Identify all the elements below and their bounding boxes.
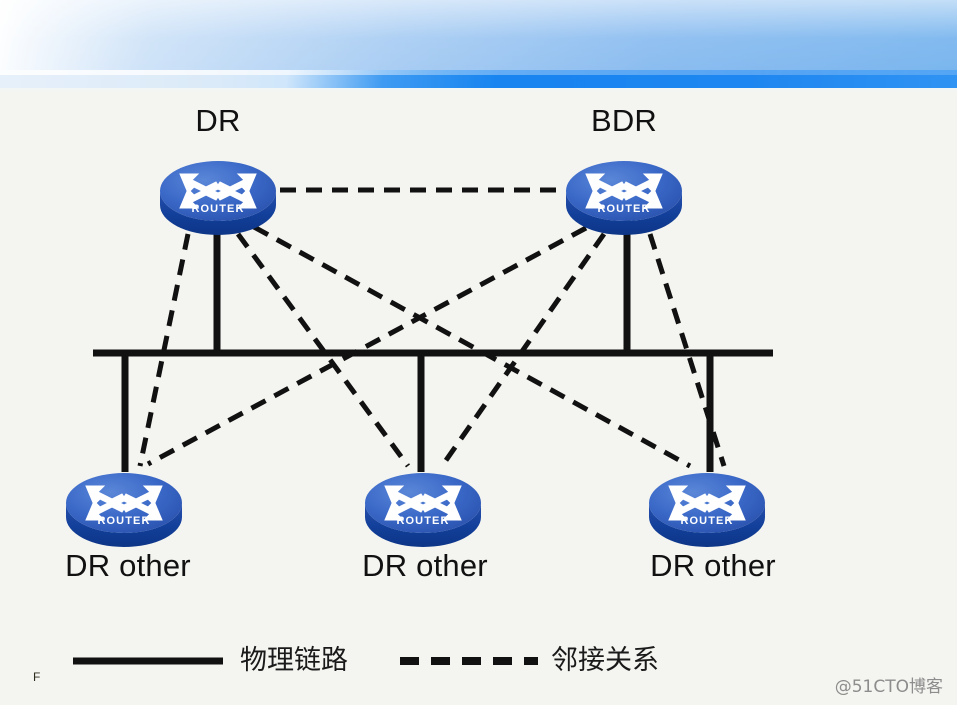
node-label-drother-2: DR other bbox=[297, 549, 553, 583]
watermark-51cto: @51CTO博客 bbox=[835, 672, 943, 697]
node-label-bdr: BDR bbox=[406, 104, 842, 138]
router-node-bdr[interactable] bbox=[566, 161, 682, 235]
router-node-drother-1[interactable] bbox=[66, 473, 182, 547]
header-band bbox=[0, 0, 957, 70]
slide-root: ROUTER bbox=[0, 0, 957, 705]
legend-label-adjacency: 邻接关系 bbox=[551, 646, 659, 676]
router-node-dr[interactable] bbox=[160, 161, 276, 235]
router-node-drother-2[interactable] bbox=[365, 473, 481, 547]
node-label-drother-3: DR other bbox=[585, 549, 841, 583]
diagram-canvas: ROUTER bbox=[0, 94, 957, 705]
corner-mark: F bbox=[33, 671, 40, 683]
router-node-drother-3[interactable] bbox=[649, 473, 765, 547]
header-accent-stripe bbox=[0, 70, 957, 88]
legend-label-physical-link: 物理链路 bbox=[240, 646, 348, 676]
physical-links bbox=[93, 220, 773, 472]
node-label-drother-1: DR other bbox=[0, 549, 256, 583]
node-label-dr: DR bbox=[0, 104, 436, 138]
network-topology-svg: ROUTER bbox=[0, 94, 957, 705]
